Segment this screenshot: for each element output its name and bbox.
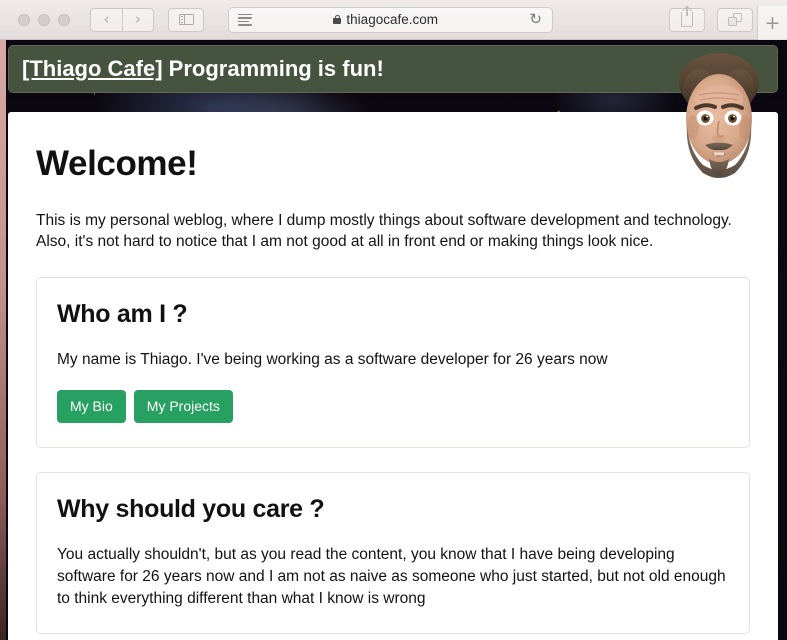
zoom-window-button[interactable] bbox=[58, 14, 70, 26]
panel-button-row: My Bio My Projects bbox=[57, 390, 729, 423]
sidebar-icon bbox=[179, 14, 194, 25]
content-inner: Welcome! This is my personal weblog, whe… bbox=[8, 112, 778, 634]
minimize-window-button[interactable] bbox=[38, 14, 50, 26]
chevron-left-icon: ‹ bbox=[104, 12, 110, 27]
close-window-button[interactable] bbox=[18, 14, 30, 26]
new-tab-button[interactable]: + bbox=[757, 6, 787, 40]
page-viewport: [Thiago Cafe] Programming is fun! bbox=[0, 40, 787, 640]
site-header-title: [Thiago Cafe] Programming is fun! bbox=[22, 56, 384, 82]
panel-title: Why should you care ? bbox=[57, 495, 729, 524]
page-scrollbar[interactable] bbox=[774, 112, 778, 640]
page-title: Welcome! bbox=[36, 144, 750, 184]
navigation-buttons: ‹ › bbox=[90, 8, 154, 32]
window-left-edge bbox=[0, 40, 6, 640]
toolbar-right-tools bbox=[669, 8, 753, 32]
url-text: thiagocafe.com bbox=[346, 12, 438, 27]
site-brand-link[interactable]: [Thiago Cafe] bbox=[22, 56, 163, 81]
back-button[interactable]: ‹ bbox=[90, 8, 122, 32]
browser-toolbar: ‹ › thiagocafe.com ↻ + bbox=[0, 0, 787, 40]
site-tagline: Programming is fun! bbox=[163, 56, 384, 81]
tabs-icon bbox=[728, 13, 742, 26]
my-bio-button[interactable]: My Bio bbox=[57, 390, 126, 423]
panel-text: My name is Thiago. I've being working as… bbox=[57, 349, 729, 371]
show-all-tabs-button[interactable] bbox=[717, 8, 753, 32]
reload-icon[interactable]: ↻ bbox=[529, 12, 542, 27]
my-projects-button[interactable]: My Projects bbox=[134, 390, 233, 423]
address-bar[interactable]: thiagocafe.com ↻ bbox=[228, 7, 553, 33]
chevron-right-icon: › bbox=[135, 12, 141, 27]
intro-paragraph: This is my personal weblog, where I dump… bbox=[36, 210, 750, 253]
sidebar-toggle-button[interactable] bbox=[168, 8, 204, 32]
url-display: thiagocafe.com bbox=[242, 12, 529, 27]
share-button[interactable] bbox=[669, 8, 705, 32]
panel-who-am-i: Who am I ? My name is Thiago. I've being… bbox=[36, 277, 750, 448]
window-controls bbox=[18, 14, 70, 26]
share-icon bbox=[681, 12, 693, 27]
panel-text: You actually shouldn't, but as you read … bbox=[57, 544, 729, 609]
forward-button[interactable]: › bbox=[122, 8, 154, 32]
page-content-container: Welcome! This is my personal weblog, whe… bbox=[8, 112, 778, 640]
panel-why-should-you-care: Why should you care ? You actually shoul… bbox=[36, 472, 750, 634]
panel-title: Who am I ? bbox=[57, 300, 729, 329]
site-header: [Thiago Cafe] Programming is fun! bbox=[8, 45, 778, 93]
lock-icon bbox=[333, 15, 341, 24]
